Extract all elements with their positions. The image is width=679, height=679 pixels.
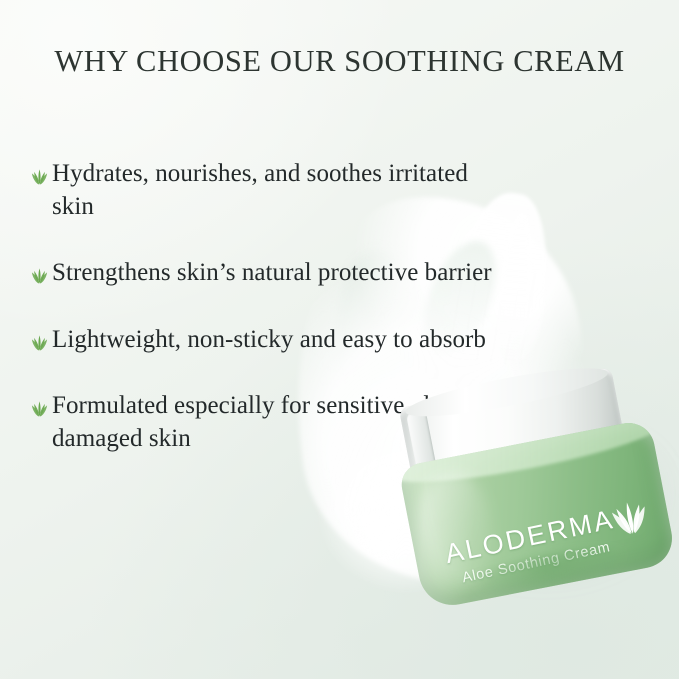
benefit-text: Lightweight, non-sticky and easy to abso…	[52, 324, 486, 357]
benefit-text: Strengthens skin’s natural protective ba…	[52, 257, 492, 290]
aloe-plant-icon	[30, 164, 49, 185]
list-item: Lightweight, non-sticky and easy to abso…	[30, 324, 510, 357]
aloe-plant-icon	[30, 263, 49, 284]
aloe-plant-icon	[603, 484, 655, 538]
list-item: Hydrates, nourishes, and soothes irritat…	[30, 158, 510, 223]
aloe-plant-icon	[30, 330, 49, 351]
product-benefits-poster: WHY CHOOSE OUR SOOTHING CREAM Hydrates, …	[0, 0, 679, 679]
benefit-text: Hydrates, nourishes, and soothes irritat…	[52, 158, 510, 223]
list-item: Strengthens skin’s natural protective ba…	[30, 257, 510, 290]
page-title: WHY CHOOSE OUR SOOTHING CREAM	[0, 44, 679, 79]
aloe-plant-icon	[30, 396, 49, 417]
